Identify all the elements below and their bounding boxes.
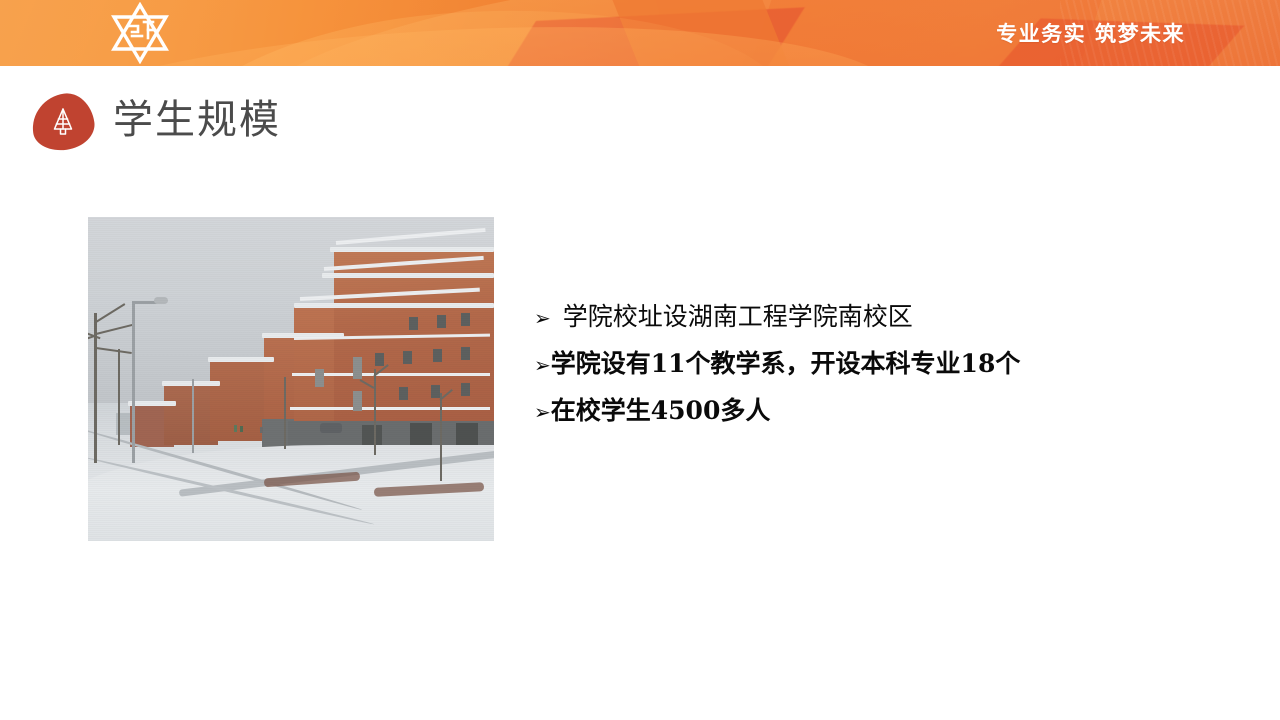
- header-facet-a: [455, 7, 805, 66]
- bullet-item-1: ➢ 学院校址设湖南工程学院南校区: [534, 294, 1234, 341]
- header-tagline: 专业务实 筑梦未来: [996, 18, 1185, 48]
- arrow-bullet-icon: ➢: [534, 389, 551, 435]
- bullet-item-3: ➢ 在校学生4500多人: [534, 388, 1234, 435]
- header-ribbon-curve-1: [0, 0, 677, 66]
- pine-tree-icon: [32, 94, 94, 150]
- slide-title-row: 学生规模: [0, 92, 1280, 152]
- arrow-bullet-icon: ➢: [534, 342, 551, 388]
- header-ribbon-curve-2: [142, 0, 799, 66]
- title-badge-blob: [28, 90, 97, 154]
- bullet-item-2: ➢ 学院设有11个教学系，开设本科专业18个: [534, 341, 1234, 388]
- page-title: 学生规模: [113, 92, 281, 148]
- header-facet-b: [603, 0, 797, 66]
- photo-grain-overlay: [88, 217, 494, 541]
- bullet-item-2-text: 学院设有11个教学系，开设本科专业18个: [551, 341, 1021, 387]
- campus-snow-photo: [88, 217, 494, 541]
- bullet-list: ➢ 学院校址设湖南工程学院南校区 ➢ 学院设有11个教学系，开设本科专业18个 …: [534, 294, 1234, 435]
- bullet-item-1-text: 学院校址设湖南工程学院南校区: [563, 294, 913, 340]
- header-banner: 专业务实 筑梦未来: [0, 0, 1280, 66]
- bullet-item-3-text: 在校学生4500多人: [551, 388, 771, 434]
- arrow-bullet-icon: ➢: [534, 295, 551, 341]
- school-emblem-star-logo: [108, 2, 172, 64]
